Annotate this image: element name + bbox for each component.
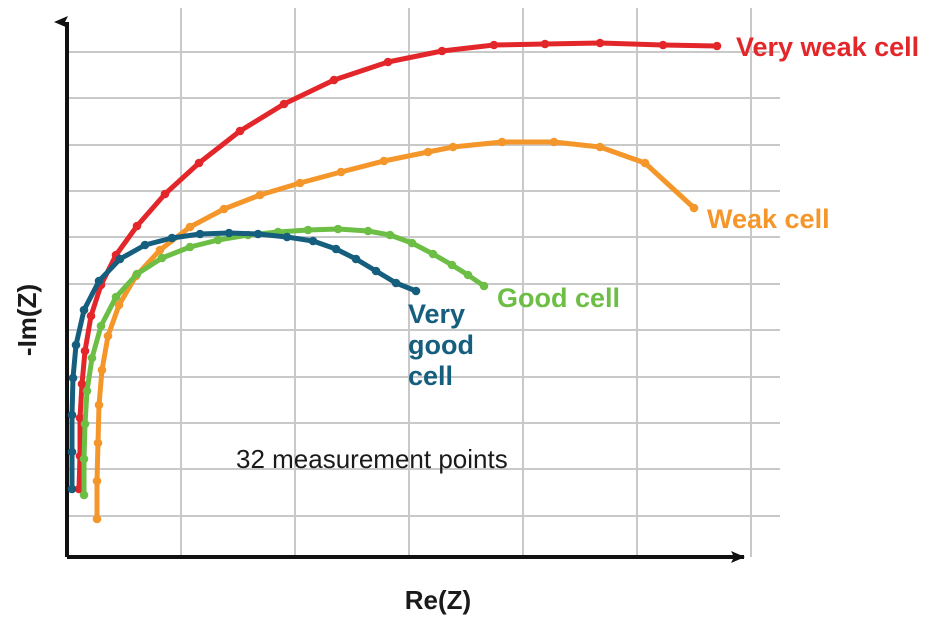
data-point — [464, 271, 473, 280]
data-point — [93, 477, 102, 486]
data-point — [186, 223, 195, 232]
data-point — [225, 229, 234, 238]
data-point — [330, 76, 339, 85]
data-point — [236, 127, 245, 136]
data-point — [87, 312, 96, 321]
data-point — [88, 354, 97, 363]
data-point — [280, 100, 289, 109]
data-point — [372, 267, 381, 276]
data-point — [659, 41, 668, 50]
data-point — [161, 190, 170, 199]
data-point — [690, 204, 699, 213]
data-point — [713, 42, 722, 51]
data-point — [94, 439, 103, 448]
data-point — [133, 222, 142, 231]
data-point — [68, 485, 77, 494]
data-point — [116, 255, 125, 264]
data-point — [309, 237, 318, 246]
data-point — [69, 374, 78, 383]
data-point — [429, 250, 438, 259]
data-point — [337, 168, 346, 177]
data-point — [83, 387, 92, 396]
data-point — [68, 411, 77, 420]
data-point — [168, 234, 177, 243]
data-point — [133, 270, 142, 279]
data-point — [254, 230, 263, 239]
data-point — [220, 205, 229, 214]
data-point — [81, 420, 90, 429]
y-axis-label: -Im(Z) — [12, 284, 42, 356]
data-point — [332, 245, 341, 254]
data-point — [641, 159, 650, 168]
data-point — [352, 255, 361, 264]
chart-canvas: -Im(Z) Re(Z) 32 measurement points Very … — [0, 0, 948, 627]
data-point — [80, 306, 89, 315]
series-label-weak-cell: Weak cell — [707, 204, 830, 234]
nyquist-plot-svg: -Im(Z) Re(Z) 32 measurement points Very … — [0, 0, 948, 627]
data-point — [392, 279, 401, 288]
data-point — [438, 47, 447, 56]
data-point — [424, 148, 433, 157]
data-point — [214, 236, 223, 245]
data-point — [596, 39, 605, 48]
data-point — [384, 58, 393, 67]
series-label-very-good-line-1: Very — [408, 299, 465, 329]
data-point — [158, 254, 167, 263]
data-point — [93, 515, 102, 524]
data-point — [480, 282, 489, 291]
data-point — [380, 157, 389, 166]
chart-background — [0, 0, 948, 627]
data-point — [112, 293, 121, 302]
data-point — [68, 448, 77, 457]
data-point — [386, 231, 395, 240]
data-point — [550, 138, 559, 147]
data-point — [195, 159, 204, 168]
data-point — [186, 243, 195, 252]
data-point — [72, 341, 81, 350]
data-point — [196, 230, 205, 239]
data-point — [156, 246, 165, 255]
data-point — [97, 322, 106, 331]
data-point — [364, 227, 373, 236]
data-point — [78, 380, 87, 389]
series-label-very-good-line-3: cell — [408, 361, 453, 391]
data-point — [490, 41, 499, 50]
data-point — [449, 143, 458, 152]
data-point — [408, 239, 417, 248]
data-point — [80, 455, 89, 464]
data-point — [498, 138, 507, 147]
data-point — [95, 277, 104, 286]
series-label-good-cell: Good cell — [497, 283, 620, 313]
data-point — [334, 225, 343, 234]
data-point — [304, 226, 313, 235]
data-point — [98, 366, 107, 375]
data-point — [596, 143, 605, 152]
data-point — [104, 332, 113, 341]
series-label-very-weak-cell: Very weak cell — [736, 32, 919, 62]
data-point — [412, 287, 421, 296]
data-point — [95, 401, 104, 410]
measurement-count-annotation: 32 measurement points — [236, 444, 508, 474]
data-point — [141, 241, 150, 250]
data-point — [81, 347, 90, 356]
series-label-very-good-line-2: good — [408, 330, 474, 360]
data-point — [448, 261, 457, 270]
data-point — [283, 233, 292, 242]
x-axis-label: Re(Z) — [405, 585, 471, 615]
data-point — [541, 40, 550, 49]
data-point — [256, 191, 265, 200]
data-point — [296, 179, 305, 188]
data-point — [80, 491, 89, 500]
